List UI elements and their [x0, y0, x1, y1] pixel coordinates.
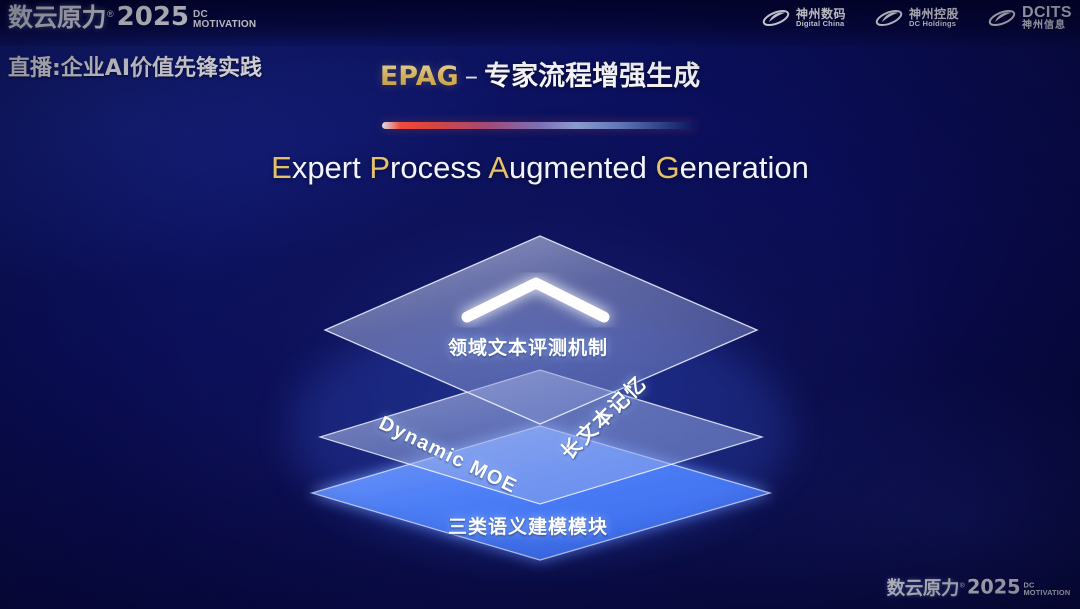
- watermark-registered-icon: ®: [960, 582, 965, 589]
- swirl-logo-icon: [761, 5, 791, 31]
- logo-dc-holdings: 神州控股 DC Holdings: [874, 5, 959, 31]
- layer-label-long-text-memory: 长文本记忆: [553, 368, 652, 465]
- brand-registered-icon: ®: [107, 10, 114, 19]
- title-divider: [382, 122, 695, 129]
- layer-label-top: 领域文本评测机制: [448, 333, 608, 360]
- chevron-up-icon: [467, 283, 604, 317]
- slide-canvas: 数云原力 ® 2025 DC MOTIVATION 直播:企业AI价值先锋实践 …: [0, 0, 1080, 609]
- brand-logo-chinese: 数云原力: [8, 5, 106, 30]
- logo-dcits-text: DCITS 神州信息: [1022, 4, 1072, 32]
- layer-label-dynamic-moe: Dynamic MOE: [375, 412, 521, 499]
- logo-dcits: DCITS 神州信息: [987, 4, 1072, 32]
- watermark-logo: 数云原力 ® 2025 DC MOTIVATION: [886, 578, 1070, 597]
- swirl-logo-icon: [874, 5, 904, 31]
- layer-label-bottom: 三类语义建模模块: [448, 512, 608, 539]
- logo-digital-china-text: 神州数码 Digital China: [796, 8, 846, 29]
- page-title-chinese: 专家流程增强生成: [484, 61, 700, 92]
- page-title: EPAG–专家流程增强生成: [0, 54, 1080, 93]
- swirl-logo-icon: [987, 5, 1017, 31]
- watermark-dc-motivation: DC MOTIVATION: [1023, 582, 1070, 596]
- brand-logo: 数云原力 ® 2025 DC MOTIVATION: [8, 4, 256, 30]
- brand-dc-motivation: DC MOTIVATION: [193, 10, 256, 29]
- partner-logos: 神州数码 Digital China 神州控股 DC Holdings: [761, 4, 1072, 32]
- layer-plate-bottom[interactable]: [312, 426, 770, 560]
- logo-digital-china-en: Digital China: [796, 20, 846, 28]
- watermark-chinese: 数云原力: [886, 579, 959, 598]
- subtitle-word-generation: Generation: [655, 150, 808, 185]
- logo-dcits-en: DCITS: [1022, 4, 1072, 21]
- page-subtitle: Expert Process Augmented Generation: [0, 150, 1080, 186]
- page-title-dash: –: [459, 61, 485, 92]
- brand-logo-year: 2025: [117, 4, 189, 30]
- watermark-motivation-label: MOTIVATION: [1023, 589, 1070, 596]
- subtitle-word-augmented: Augmented: [488, 150, 647, 185]
- logo-dcits-cn: 神州信息: [1022, 21, 1072, 32]
- logo-dc-holdings-en: DC Holdings: [909, 20, 959, 28]
- page-title-acronym: EPAG: [380, 61, 459, 92]
- logo-digital-china: 神州数码 Digital China: [761, 5, 846, 31]
- subtitle-word-expert: Expert: [271, 150, 361, 185]
- subtitle-word-process: Process: [369, 150, 481, 185]
- brand-motivation-label: MOTIVATION: [193, 20, 256, 30]
- layer-plate-top[interactable]: [325, 236, 757, 424]
- watermark-year: 2025: [967, 578, 1021, 597]
- logo-dc-holdings-text: 神州控股 DC Holdings: [909, 8, 959, 29]
